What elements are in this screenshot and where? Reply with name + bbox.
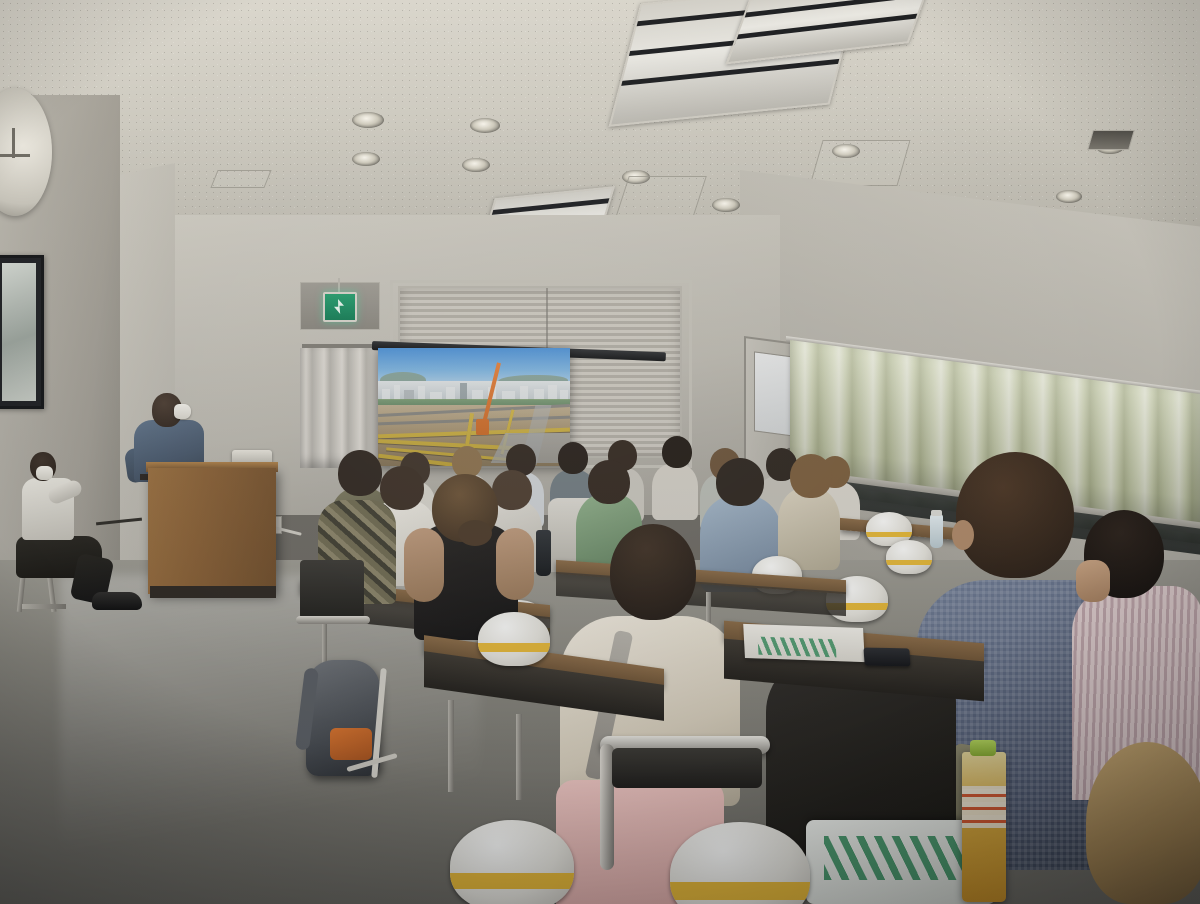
white-hard-hat: [886, 540, 932, 574]
person-middle-head: [492, 470, 532, 510]
water-bottle: [536, 530, 551, 576]
person-middle-head: [380, 466, 424, 510]
left-person-shoe: [92, 592, 142, 610]
white-hard-hat: [450, 820, 574, 904]
water-bottle: [930, 514, 943, 548]
door-window: [754, 351, 794, 436]
white-hard-hat: [478, 612, 550, 666]
person-front-head: [1086, 742, 1200, 904]
chair-seat[interactable]: [612, 748, 762, 788]
desk-leg: [448, 700, 454, 792]
person-front-head: [956, 452, 1074, 578]
bottle-cap-icon: [970, 740, 996, 756]
person-middle-head: [716, 458, 764, 506]
person-rear-torso: [652, 464, 698, 520]
framed-picture: [0, 255, 44, 409]
wooden-podium: [148, 468, 276, 594]
podium-base: [150, 586, 276, 598]
presenter-face-mask: [174, 404, 191, 419]
chair-back[interactable]: [300, 560, 364, 618]
handout-map-print: [758, 637, 837, 658]
person-front-ear: [952, 520, 974, 550]
person-front-bun: [458, 520, 492, 546]
person-rear-head: [662, 436, 692, 468]
person-middle-head: [338, 450, 382, 496]
person-front-shoulder: [404, 528, 444, 602]
projected-crane-body: [476, 419, 489, 435]
backpack-accent: [330, 728, 372, 760]
person-rear-head: [558, 442, 588, 474]
person-front-head: [610, 524, 696, 620]
person-front-hand: [1076, 560, 1110, 602]
chair-frame: [296, 616, 370, 624]
bottle-label: [962, 786, 1006, 828]
desk-leg: [516, 714, 522, 800]
lecture-room-photo: [0, 0, 1200, 904]
smartphone[interactable]: [863, 648, 910, 667]
plastic-carry-bag-print: [824, 836, 964, 880]
bottle-cap-icon: [931, 510, 942, 516]
left-person-face-mask: [36, 466, 53, 480]
projected-city: [378, 381, 570, 400]
person-middle-head: [790, 454, 832, 498]
person-front-shoulder: [496, 528, 534, 600]
person-middle-head: [588, 460, 630, 504]
emergency-exit-sign: [323, 292, 357, 322]
